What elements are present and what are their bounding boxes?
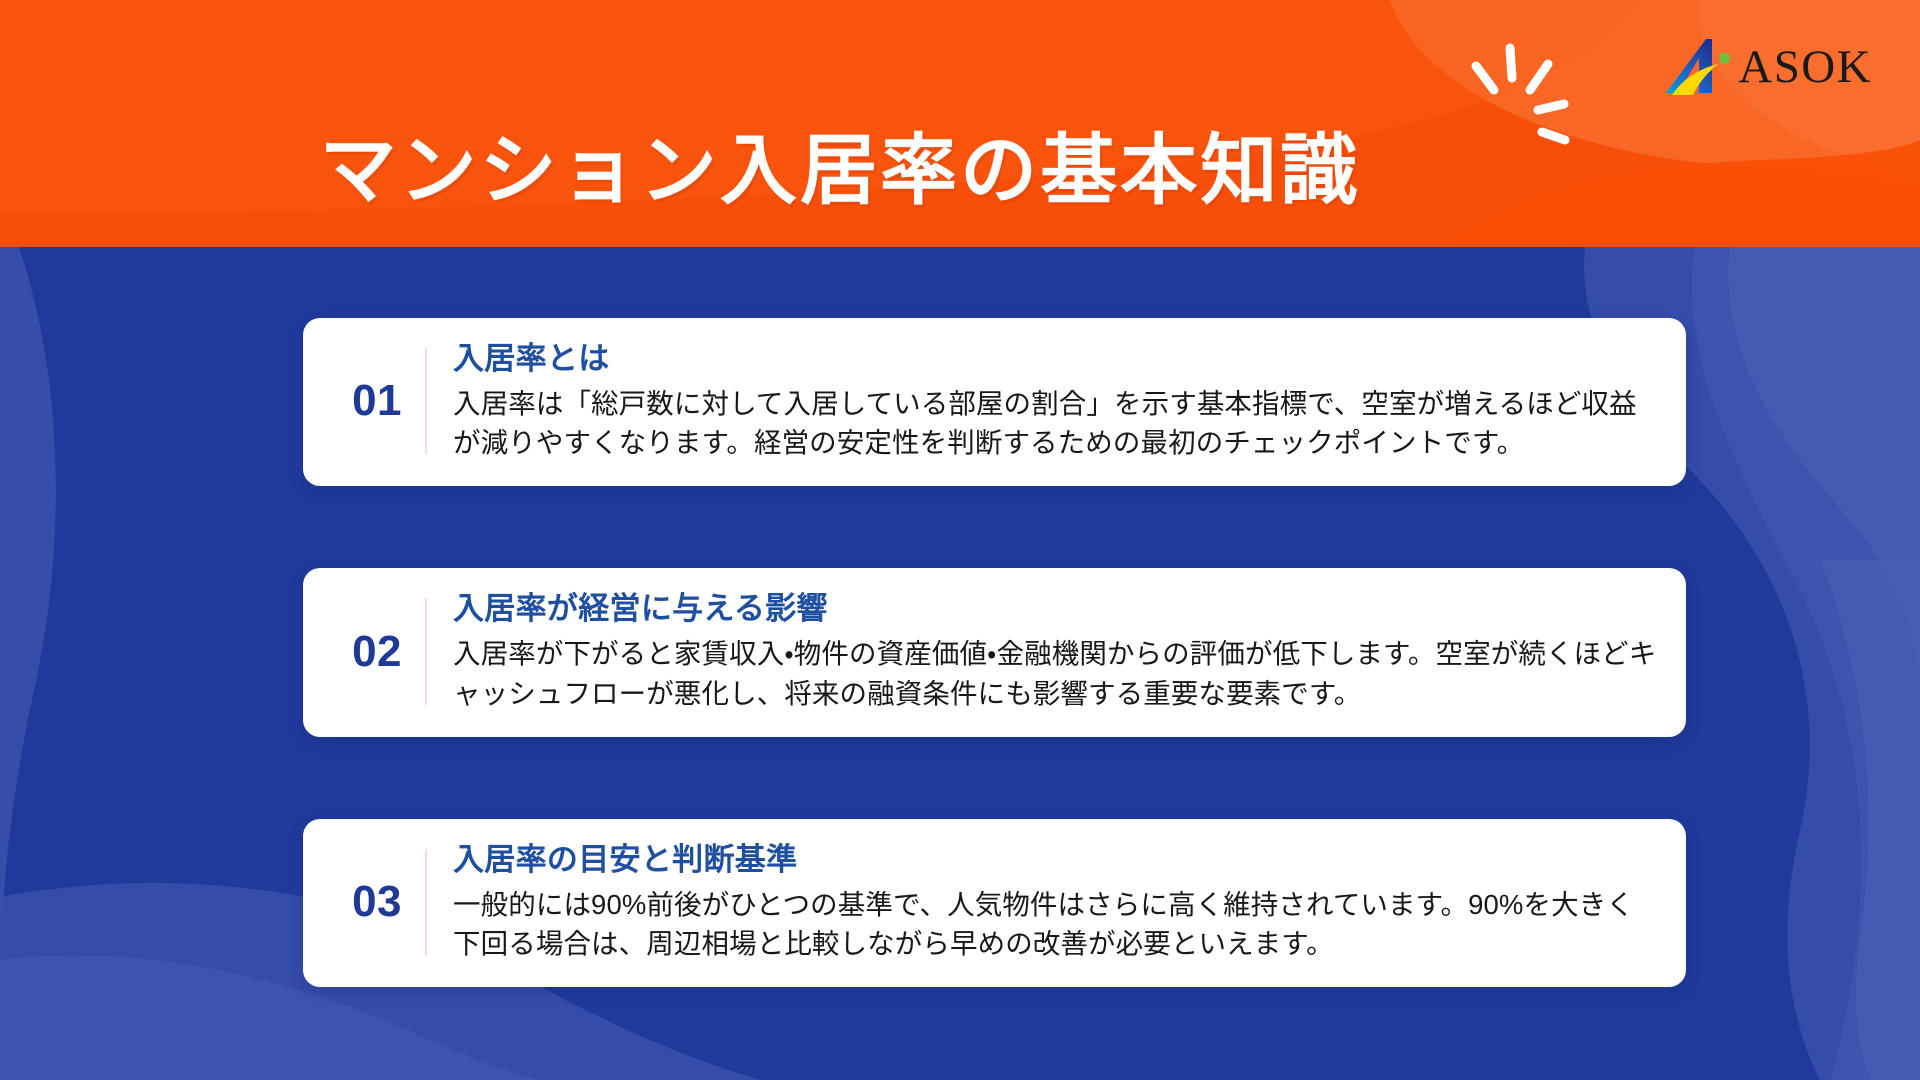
card-number: 03: [329, 841, 425, 963]
card-title: 入居率の目安と判断基準: [453, 841, 1660, 879]
info-card-03: 03 入居率の目安と判断基準 一般的には90%前後がひとつの基準で、人気物件はさ…: [303, 819, 1686, 987]
card-body: 入居率が経営に与える影響 入居率が下がると家賃収入・物件の資産価値・金融機関から…: [427, 590, 1660, 712]
card-body: 入居率とは 入居率は「総戸数に対して入居している部屋の割合」を示す基本指標で、空…: [427, 340, 1660, 462]
card-text: 入居率は「総戸数に対して入居している部屋の割合」を示す基本指標で、空室が増えるほ…: [453, 384, 1660, 463]
info-card-02: 02 入居率が経営に与える影響 入居率が下がると家賃収入・物件の資産価値・金融機…: [303, 568, 1686, 736]
asok-wordmark: ASOK: [1738, 44, 1872, 91]
card-title: 入居率とは: [453, 340, 1660, 378]
asok-logo: ASOK: [1666, 36, 1872, 98]
card-text: 入居率が下がると家賃収入・物件の資産価値・金融機関からの評価が低下します。空室が…: [453, 634, 1660, 713]
card-text: 一般的には90%前後がひとつの基準で、人気物件はさらに高く維持されています。90…: [453, 885, 1660, 964]
card-number: 01: [329, 340, 425, 462]
slide-root: マンション入居率の基本知識: [0, 0, 1920, 1080]
page-title: マンション入居率の基本知識: [0, 52, 1680, 247]
sparkle-burst-icon: [1452, 28, 1572, 148]
card-body: 入居率の目安と判断基準 一般的には90%前後がひとつの基準で、人気物件はさらに高…: [427, 841, 1660, 963]
asok-a-mark-icon: [1666, 38, 1730, 96]
card-title: 入居率が経営に与える影響: [453, 590, 1660, 628]
card-list: 01 入居率とは 入居率は「総戸数に対して入居している部屋の割合」を示す基本指標…: [303, 318, 1686, 987]
card-number: 02: [329, 590, 425, 712]
header-band: マンション入居率の基本知識: [0, 0, 1920, 247]
info-card-01: 01 入居率とは 入居率は「総戸数に対して入居している部屋の割合」を示す基本指標…: [303, 318, 1686, 486]
